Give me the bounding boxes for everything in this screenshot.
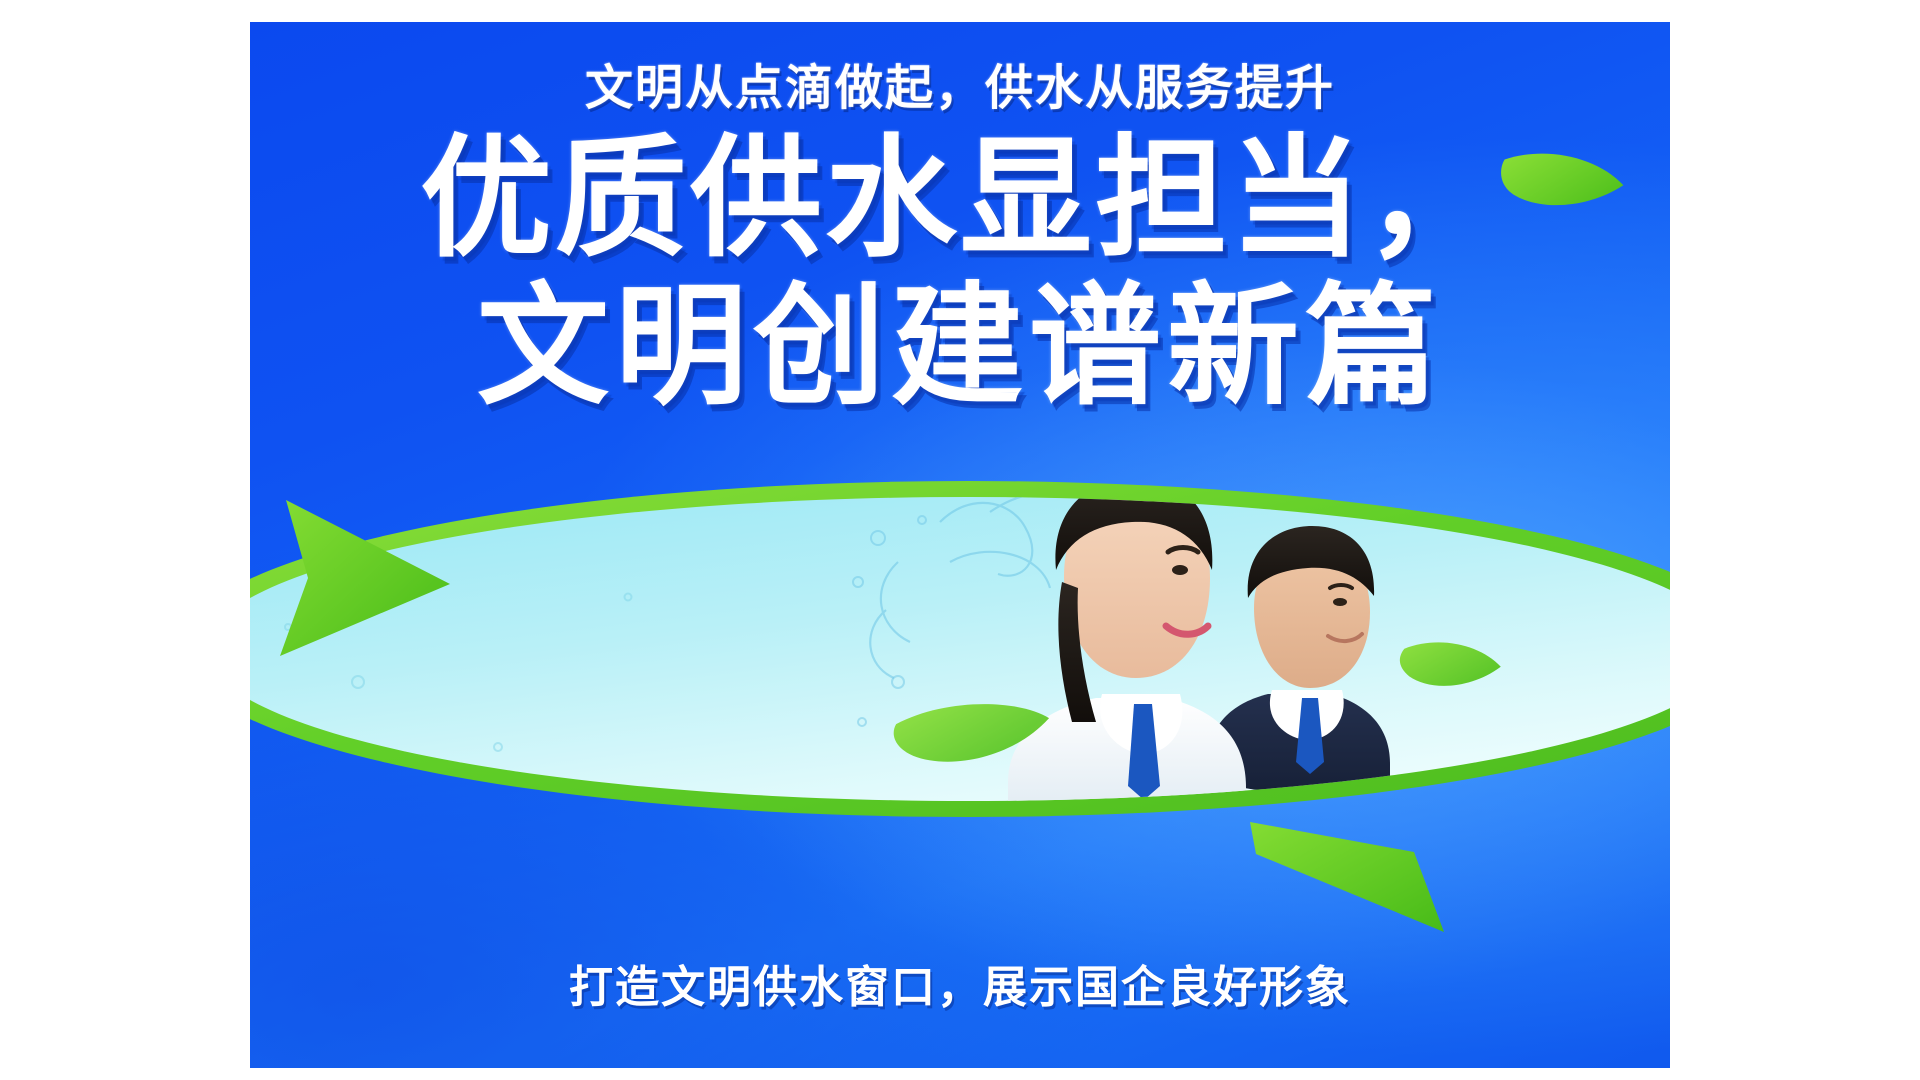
- poster-footer: 打造文明供水窗口，展示国企良好形象: [250, 966, 1670, 1010]
- headline-line-2: 文明创建谱新篇: [250, 274, 1670, 422]
- ellipse-graphic: [250, 477, 1670, 817]
- poster-canvas: 文明从点滴做起，供水从服务提升 优质供水显担当， 文明创建谱新篇 打造文明供水窗…: [0, 0, 1920, 1080]
- arrow-left-icon: [1250, 822, 1444, 932]
- poster: 文明从点滴做起，供水从服务提升 优质供水显担当， 文明创建谱新篇 打造文明供水窗…: [250, 22, 1670, 1068]
- poster-headline: 优质供水显担当， 文明创建谱新篇: [250, 126, 1670, 422]
- headline-line-1: 优质供水显担当，: [250, 126, 1670, 274]
- text-block: 文明从点滴做起，供水从服务提升 优质供水显担当， 文明创建谱新篇: [250, 22, 1670, 422]
- poster-subtitle: 文明从点滴做起，供水从服务提升: [250, 64, 1670, 112]
- ellipse-cyan-field: [250, 497, 1670, 801]
